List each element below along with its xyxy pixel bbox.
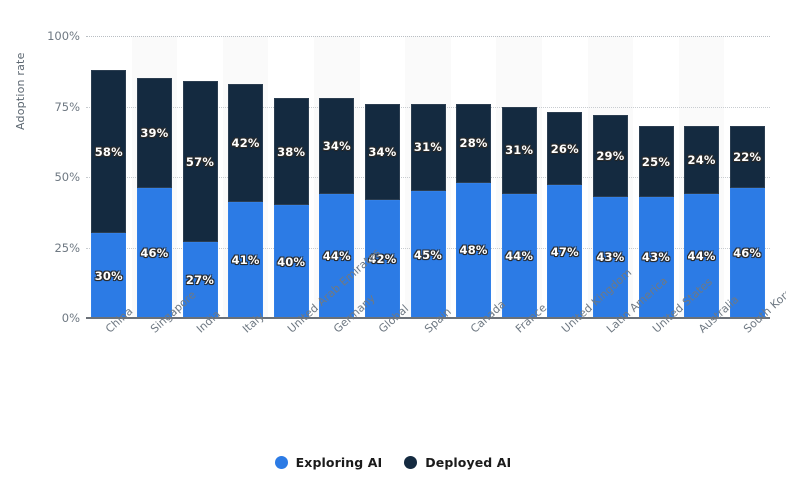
bar-value-label: 43% [596, 250, 624, 264]
bar-segment-deployed[interactable]: 58% [91, 70, 126, 234]
bar-segment-deployed[interactable]: 31% [502, 107, 537, 194]
bar-value-label: 30% [95, 269, 123, 283]
bar-segment-exploring[interactable]: 44% [502, 194, 537, 318]
bar-value-label: 46% [140, 246, 168, 260]
bar-value-label: 48% [460, 243, 488, 257]
bar-group[interactable]: 43%25% [639, 36, 674, 318]
bar-segment-deployed[interactable]: 24% [684, 126, 719, 194]
bar-value-label: 24% [688, 153, 716, 167]
legend-item[interactable]: Deployed AI [404, 455, 511, 470]
y-tick-label: 100% [6, 29, 80, 43]
bar-segment-deployed[interactable]: 34% [365, 104, 400, 200]
bar-segment-deployed[interactable]: 28% [456, 104, 491, 183]
bar-value-label: 38% [277, 145, 305, 159]
y-tick-label: 0% [6, 311, 80, 325]
bar-group[interactable]: 41%42% [228, 36, 263, 318]
bar-segment-exploring[interactable]: 41% [228, 202, 263, 318]
y-tick-label: 50% [6, 170, 80, 184]
bar-segment-deployed[interactable]: 38% [274, 98, 309, 205]
plot-area: 30%58%46%39%27%57%41%42%40%38%44%34%42%3… [86, 36, 770, 318]
bar-segment-exploring[interactable]: 30% [91, 233, 126, 318]
bar-segment-exploring[interactable]: 45% [411, 191, 446, 318]
bar-segment-deployed[interactable]: 22% [730, 126, 765, 188]
legend-swatch-circle-icon [275, 456, 288, 469]
bar-segment-deployed[interactable]: 25% [639, 126, 674, 197]
bar-group[interactable]: 30%58% [91, 36, 126, 318]
y-tick-label: 25% [6, 241, 80, 255]
legend-swatch-circle-icon [404, 456, 417, 469]
bar-value-label: 26% [551, 142, 579, 156]
legend-item[interactable]: Exploring AI [275, 455, 383, 470]
bar-segment-deployed[interactable]: 31% [411, 104, 446, 191]
bar-value-label: 57% [186, 155, 214, 169]
bar-value-label: 25% [642, 155, 670, 169]
bar-value-label: 31% [505, 143, 533, 157]
bar-segment-deployed[interactable]: 26% [547, 112, 582, 185]
bar-segment-exploring[interactable]: 47% [547, 185, 582, 318]
bar-segment-exploring[interactable]: 40% [274, 205, 309, 318]
bar-value-label: 47% [551, 245, 579, 259]
bar-value-label: 44% [323, 249, 351, 263]
bar-segment-deployed[interactable]: 57% [183, 81, 218, 242]
bar-value-label: 31% [414, 140, 442, 154]
legend-label: Deployed AI [425, 455, 511, 470]
bar-value-label: 44% [505, 249, 533, 263]
bar-group[interactable]: 44%24% [684, 36, 719, 318]
bar-value-label: 28% [460, 136, 488, 150]
bar-group[interactable]: 48%28% [456, 36, 491, 318]
bar-value-label: 41% [232, 253, 260, 267]
bar-segment-deployed[interactable]: 42% [228, 84, 263, 202]
bar-value-label: 39% [140, 126, 168, 140]
bar-value-label: 42% [232, 136, 260, 150]
bar-group[interactable]: 27%57% [183, 36, 218, 318]
stacked-bar-chart: Adoption rate 0%25%50%75%100% 30%58%46%3… [0, 0, 786, 498]
bar-value-label: 43% [642, 250, 670, 264]
bar-value-label: 40% [277, 255, 305, 269]
bar-value-label: 46% [733, 246, 761, 260]
bar-value-label: 34% [368, 145, 396, 159]
bar-group[interactable]: 46%39% [137, 36, 172, 318]
bar-group[interactable]: 47%26% [547, 36, 582, 318]
x-axis-tick-labels: ChinaSingaporeIndiaItalyUnited Arab Emir… [86, 322, 770, 432]
bar-value-label: 29% [596, 149, 624, 163]
bar-segment-deployed[interactable]: 34% [319, 98, 354, 194]
bar-value-label: 45% [414, 248, 442, 262]
bar-segment-deployed[interactable]: 29% [593, 115, 628, 197]
bar-value-label: 22% [733, 150, 761, 164]
y-tick-label: 75% [6, 100, 80, 114]
chart-legend: Exploring AIDeployed AI [0, 455, 786, 470]
bar-group[interactable]: 46%22% [730, 36, 765, 318]
bar-group[interactable]: 45%31% [411, 36, 446, 318]
bar-group[interactable]: 44%31% [502, 36, 537, 318]
y-axis-tick-labels: 0%25%50%75%100% [0, 0, 80, 498]
bar-group[interactable]: 42%34% [365, 36, 400, 318]
bar-value-label: 44% [688, 249, 716, 263]
bar-segment-deployed[interactable]: 39% [137, 78, 172, 188]
bar-group[interactable]: 40%38% [274, 36, 309, 318]
bar-value-label: 27% [186, 273, 214, 287]
bar-segment-exploring[interactable]: 48% [456, 183, 491, 318]
bar-segment-exploring[interactable]: 46% [137, 188, 172, 318]
bar-value-label: 58% [95, 145, 123, 159]
bar-value-label: 34% [323, 139, 351, 153]
legend-label: Exploring AI [296, 455, 383, 470]
